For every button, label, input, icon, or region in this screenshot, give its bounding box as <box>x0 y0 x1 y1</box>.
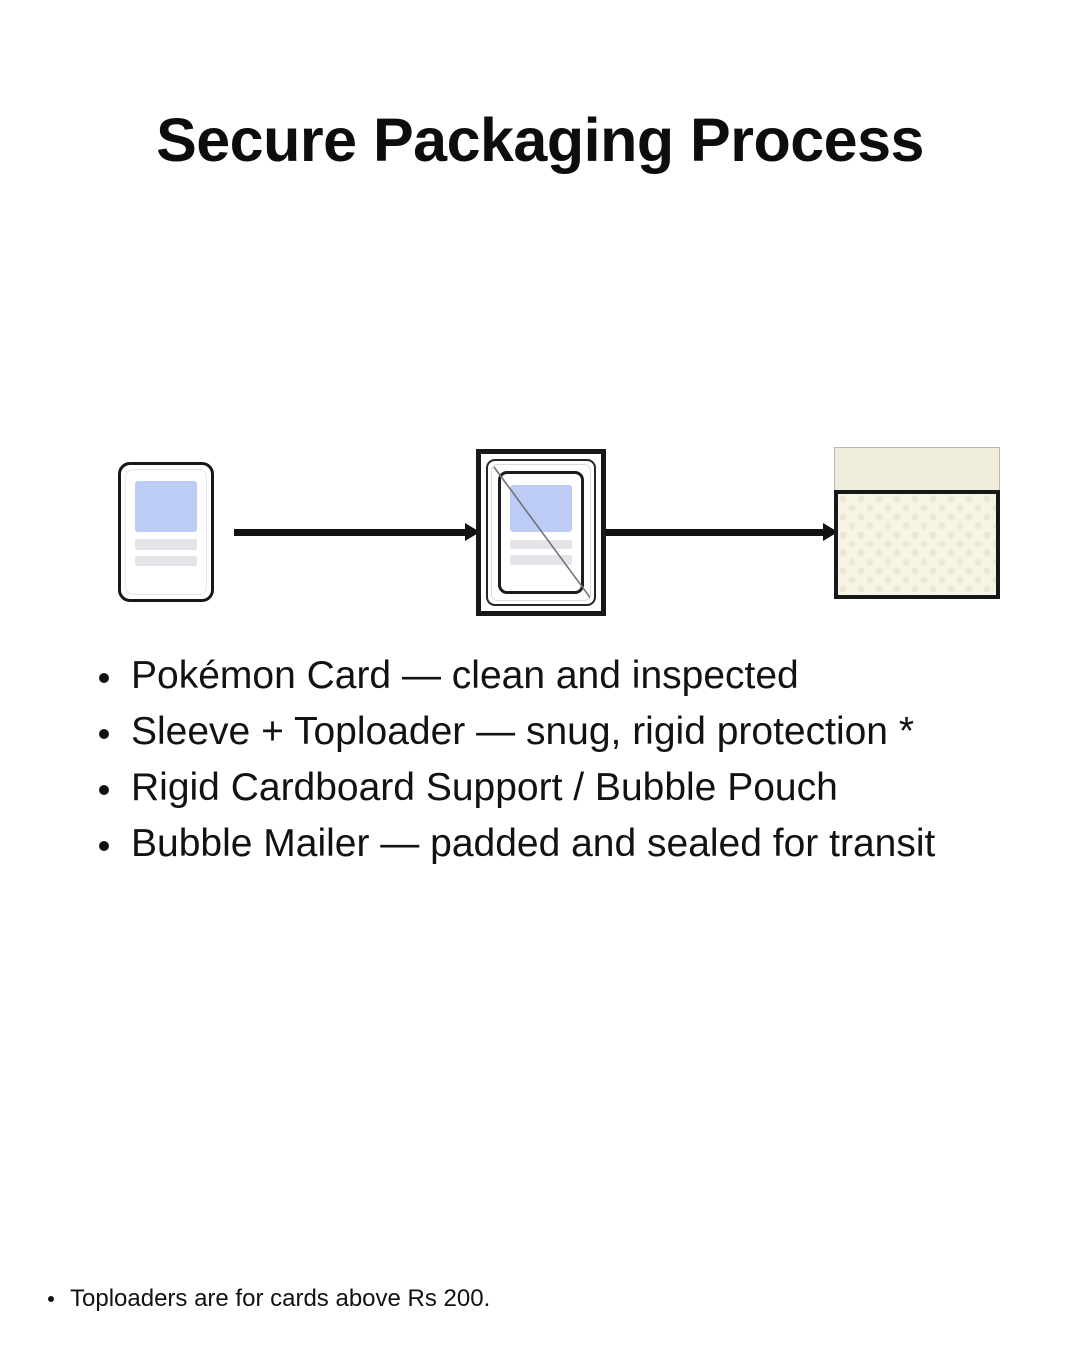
arrow-shaft <box>606 529 824 536</box>
sleeve-outline <box>486 459 596 606</box>
bubble-mailer-icon <box>834 447 1000 599</box>
card-in-sleeve-toploader-icon <box>476 449 606 616</box>
list-item: Bubble Mailer — padded and sealed for tr… <box>88 816 1048 872</box>
list-item: Sleeve + Toploader — snug, rigid protect… <box>88 704 1048 760</box>
card-text-line-1 <box>510 540 572 550</box>
list-item: Rigid Cardboard Support / Bubble Pouch <box>88 760 1048 816</box>
packaging-steps-list: Pokémon Card — clean and inspected Sleev… <box>88 648 1048 872</box>
card-text-line-2 <box>135 556 197 567</box>
mailer-body <box>834 490 1000 599</box>
card-artwork-area <box>510 485 572 533</box>
arrow-toploader-to-mailer-icon <box>606 520 838 544</box>
card-inside-sleeve <box>498 471 584 594</box>
footnote-item: Toploaders are for cards above Rs 200. <box>40 1283 1040 1315</box>
card-inner-border <box>125 469 207 595</box>
list-item: Pokémon Card — clean and inspected <box>88 648 1048 704</box>
pokemon-card-icon <box>118 462 214 602</box>
bubble-wrap-pattern <box>838 494 996 595</box>
footnote-list: Toploaders are for cards above Rs 200. <box>40 1283 1040 1315</box>
arrow-shaft <box>234 529 466 536</box>
page-title: Secure Packaging Process <box>0 104 1080 177</box>
mailer-flap <box>834 447 1000 491</box>
card-text-line-2 <box>510 555 572 565</box>
card-text-line-1 <box>135 539 197 550</box>
packaging-process-diagram <box>0 430 1080 630</box>
arrow-card-to-toploader-icon <box>234 520 480 544</box>
card-artwork-area <box>135 481 197 532</box>
